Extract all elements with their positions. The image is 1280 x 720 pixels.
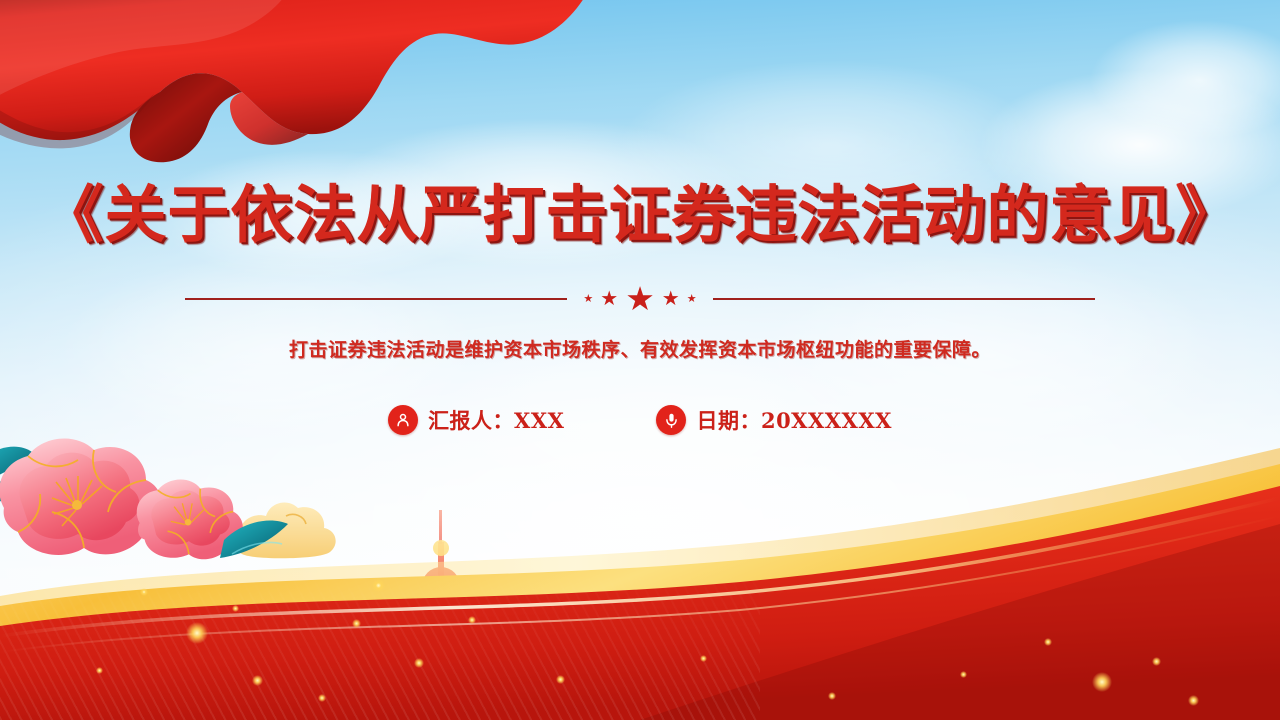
page-title: 《关于依法从严打击证券违法活动的意见》 [0,182,1280,247]
divider-stars: ★ ★ ★ ★ ★ [567,283,712,315]
cloud-decoration [1090,20,1280,140]
star-icon: ★ [625,282,655,315]
microphone-icon [656,405,686,435]
title-container: 《关于依法从严打击证券违法活动的意见》 [0,182,1280,247]
star-icon: ★ [600,289,618,309]
star-icon: ★ [662,289,680,309]
star-icon: ★ [687,294,697,305]
star-icon: ★ [583,294,593,305]
date-label: 日期：20XXXXXX [696,405,891,435]
presentation-title-slide: 《关于依法从严打击证券违法活动的意见》 ★ ★ ★ ★ ★ 打击证券违法活动是维… [0,0,1280,720]
star-divider: ★ ★ ★ ★ ★ [0,283,1280,315]
red-band-texture [0,570,760,720]
page-subtitle: 打击证券违法活动是维护资本市场秩序、有效发挥资本市场枢纽功能的重要保障。 [0,335,1280,362]
divider-line-right [713,298,1095,300]
presenter-info: 汇报人：XXX [388,405,564,435]
divider-line-left [185,298,567,300]
presenter-label: 汇报人：XXX [428,405,564,435]
date-info: 日期：20XXXXXX [656,405,891,435]
